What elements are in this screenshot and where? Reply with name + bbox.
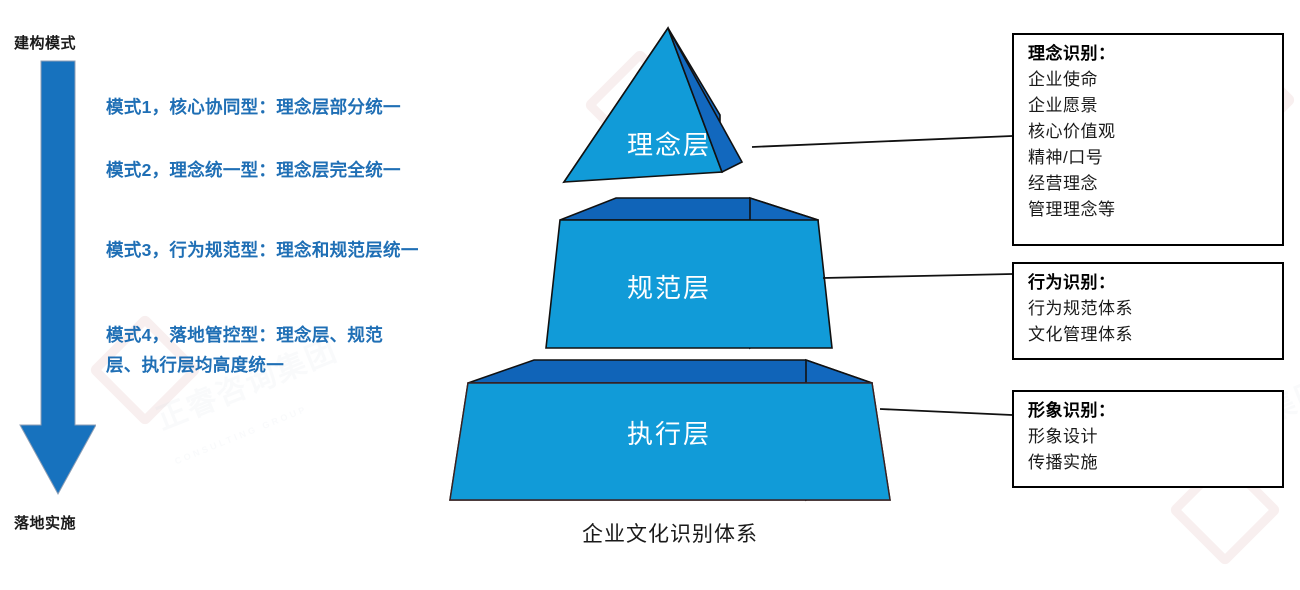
info-box-item: 经营理念 (1028, 171, 1272, 197)
connector-concept (752, 136, 1012, 147)
info-box-title: 理念识别： (1028, 41, 1272, 67)
diagram-canvas: 正睿咨询集团 正睿咨询集团 CONSULTING GROUP 建构模式 模式1，… (0, 0, 1300, 590)
info-box-item: 企业使命 (1028, 67, 1272, 93)
info-box-item: 文化管理体系 (1028, 322, 1272, 348)
info-box-item: 行为规范体系 (1028, 296, 1272, 322)
info-box-title: 行为识别： (1028, 270, 1272, 296)
info-box-item: 管理理念等 (1028, 197, 1272, 223)
info-box-item: 企业愿景 (1028, 93, 1272, 119)
info-box-item: 精神/口号 (1028, 145, 1272, 171)
info-box-item: 核心价值观 (1028, 119, 1272, 145)
connector-behavior (823, 274, 1012, 278)
info-box-behavior[interactable]: 行为识别： 行为规范体系 文化管理体系 (1012, 262, 1284, 360)
info-box-item: 形象设计 (1028, 424, 1272, 450)
connector-image (880, 409, 1012, 415)
info-box-concept[interactable]: 理念识别： 企业使命 企业愿景 核心价值观 精神/口号 经营理念 管理理念等 (1012, 33, 1284, 246)
info-box-item: 传播实施 (1028, 450, 1272, 476)
info-box-title: 形象识别： (1028, 398, 1272, 424)
info-box-image[interactable]: 形象识别： 形象设计 传播实施 (1012, 390, 1284, 488)
